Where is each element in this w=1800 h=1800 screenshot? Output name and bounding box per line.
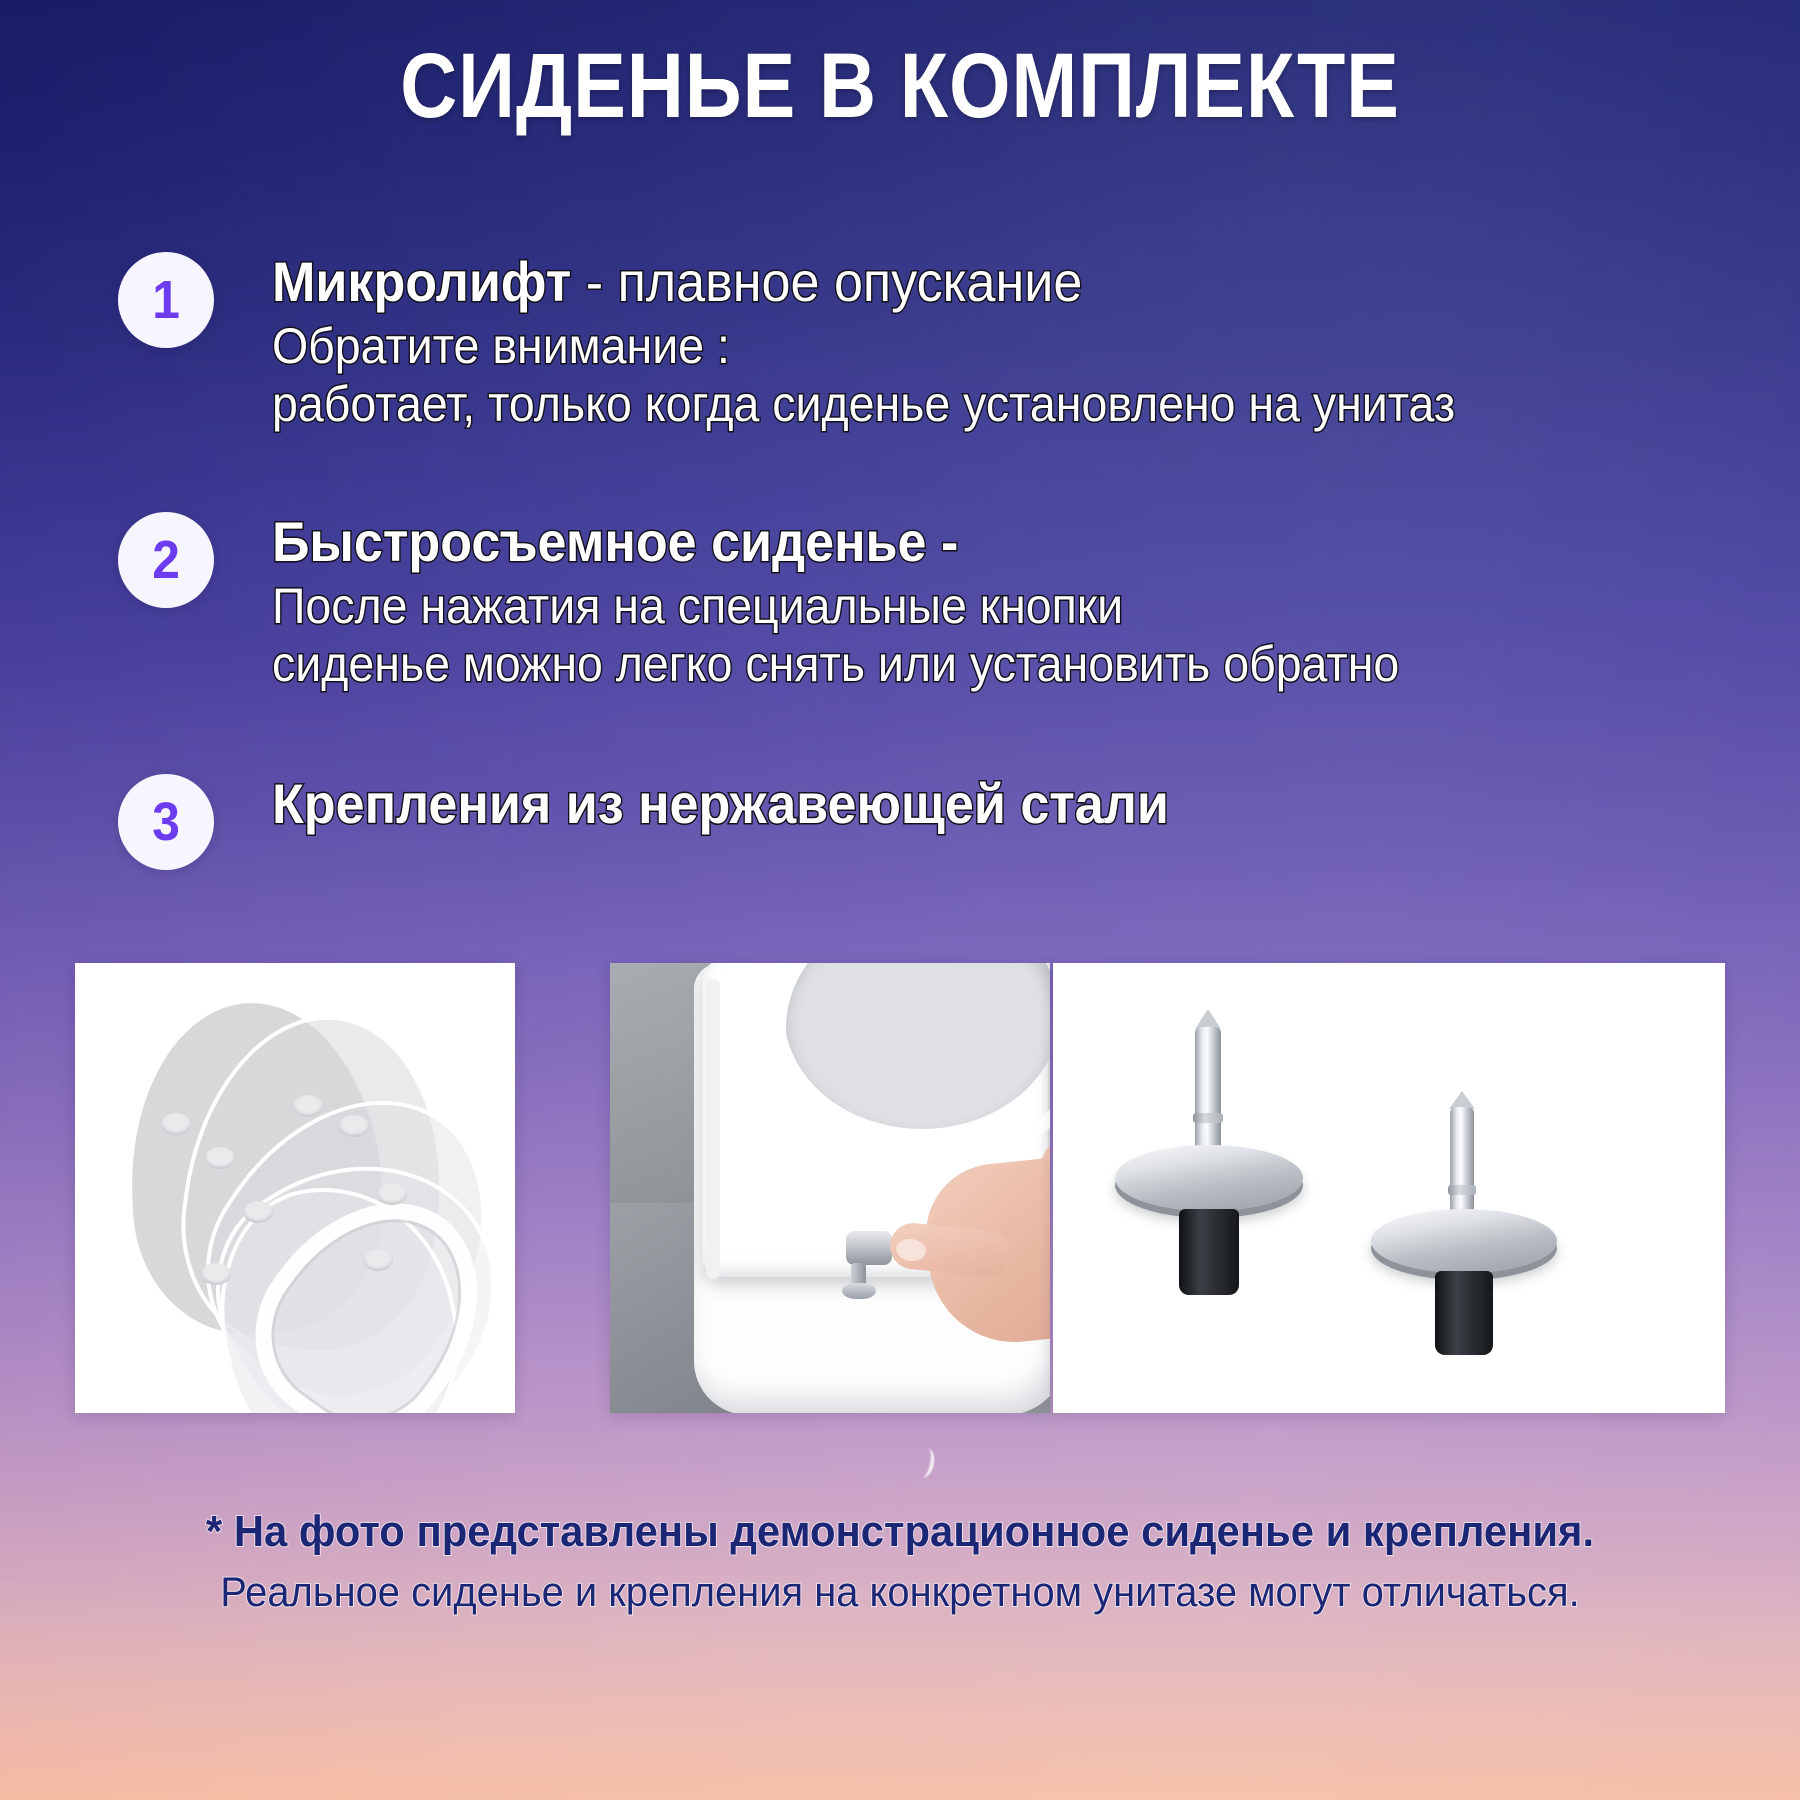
footer-disclaimer: * На фото представлены демонстрационное … xyxy=(0,1505,1800,1618)
feature-text-3: Крепления из нержавеющей стали xyxy=(272,770,1236,839)
pin-tip-icon xyxy=(1195,1009,1221,1029)
chrome-cap xyxy=(1115,1145,1303,1211)
seat-bumper xyxy=(205,1147,235,1169)
stainless-fixings-photo xyxy=(1053,963,1725,1413)
footer-note-line-2: Реальное сиденье и крепления на конкретн… xyxy=(45,1566,1755,1618)
feature-item-2: 2 Быстросъемное сиденье - После нажатия … xyxy=(118,508,1738,693)
fixing-cap xyxy=(842,1283,876,1299)
chrome-cap xyxy=(1371,1209,1557,1273)
feature-heading-1: Микролифт - плавное опускание xyxy=(272,250,1455,315)
step-number-2: 2 xyxy=(152,533,180,587)
feature-subline-1a: Обратите внимание : xyxy=(272,317,1455,375)
feature-subline-2b: сиденье можно легко снять или установить… xyxy=(272,635,1399,693)
rubber-expander xyxy=(1435,1271,1493,1355)
feature-heading-strong-3: Крепления из нержавеющей стали xyxy=(272,772,1169,835)
footer-note-line-1: * На фото представлены демонстрационное … xyxy=(45,1505,1755,1560)
feature-text-1: Микролифт - плавное опускание Обратите в… xyxy=(272,248,1544,433)
seat-bumper xyxy=(363,1249,393,1271)
rubber-expander xyxy=(1179,1209,1239,1295)
feature-subline-2a: После нажатия на специальные кнопки xyxy=(272,577,1399,635)
feature-heading-strong-1: Микролифт xyxy=(272,250,571,313)
seat-bumper xyxy=(201,1263,231,1285)
step-badge-1: 1 xyxy=(118,252,214,348)
seat-bumper xyxy=(161,1113,191,1135)
release-button xyxy=(846,1231,892,1265)
feature-heading-light-1: - плавное опускание xyxy=(571,250,1082,313)
feature-item-3: 3 Крепления из нержавеющей стали xyxy=(118,770,1738,870)
step-number-1: 1 xyxy=(152,273,180,327)
seat-bumper xyxy=(377,1183,407,1205)
feature-subline-1b: работает, только когда сиденье установле… xyxy=(272,375,1455,433)
feature-text-2: Быстросъемное сиденье - После нажатия на… xyxy=(272,508,1484,693)
quick-release-button-photo xyxy=(610,963,1050,1413)
highlight-smudge xyxy=(913,1446,937,1479)
step-badge-2: 2 xyxy=(118,512,214,608)
soft-close-seat-photo xyxy=(75,963,515,1413)
step-number-3: 3 xyxy=(152,795,180,849)
pin-collar xyxy=(1193,1113,1223,1123)
infographic-canvas: СИДЕНЬЕ В КОМПЛЕКТЕ 1 Микролифт - плавно… xyxy=(0,0,1800,1800)
feature-heading-strong-2: Быстросъемное сиденье - xyxy=(272,510,958,573)
seat-bumper xyxy=(243,1201,273,1223)
seat-bumper xyxy=(293,1095,323,1117)
step-badge-3: 3 xyxy=(118,774,214,870)
feature-heading-2: Быстросъемное сиденье - xyxy=(272,510,1399,575)
seat-bumper xyxy=(339,1115,369,1137)
pin-collar xyxy=(1448,1185,1476,1195)
feature-heading-3: Крепления из нержавеющей стали xyxy=(272,772,1169,837)
feature-item-1: 1 Микролифт - плавное опускание Обратите… xyxy=(118,248,1738,433)
page-title: СИДЕНЬЕ В КОМПЛЕКТЕ xyxy=(126,38,1674,135)
toilet-seat-edge xyxy=(706,979,720,1279)
